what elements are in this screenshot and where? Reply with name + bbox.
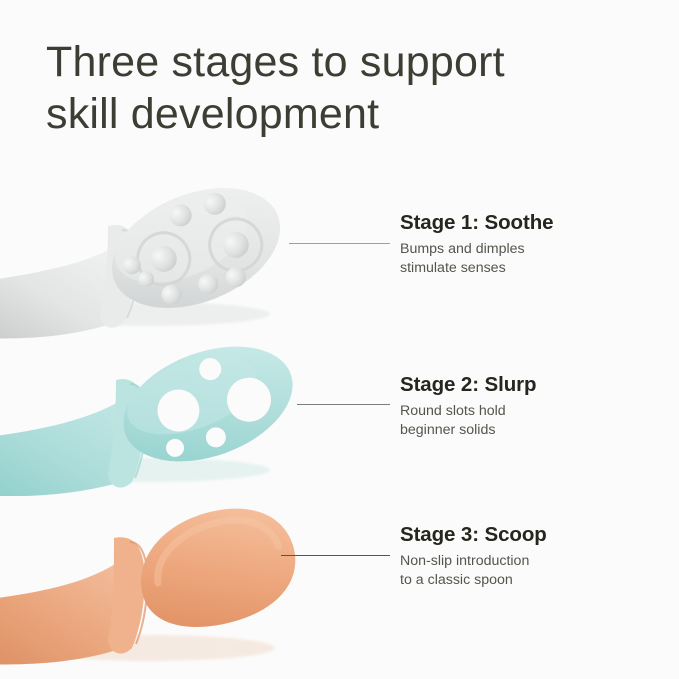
stage-text-3: Stage 3: Scoop Non-slip introduction to … <box>400 522 670 589</box>
stage-text-2: Stage 2: Slurp Round slots hold beginner… <box>400 372 670 439</box>
stage-heading-2: Stage 2: Slurp <box>400 372 670 397</box>
stage-row-2: Stage 2: Slurp Round slots hold beginner… <box>0 346 679 496</box>
product-image-stage-3 <box>0 496 400 679</box>
teal-perforated-slotted-spoon-svg <box>0 346 400 496</box>
stage-desc-1-line-1: Bumps and dimples <box>400 240 670 259</box>
gray-textured-teether-spoon-svg <box>0 186 400 346</box>
stage-desc-2-line-1: Round slots hold <box>400 402 670 421</box>
page-title: Three stages to support skill developmen… <box>46 36 586 140</box>
peach-solid-scoop-spoon-svg <box>0 496 400 679</box>
leader-line-stage-1 <box>289 243 390 244</box>
stage-desc-2-line-2: beginner solids <box>400 421 670 440</box>
product-image-stage-1 <box>0 186 400 346</box>
title-line-1: Three stages to support <box>46 36 586 88</box>
stage-row-3: Stage 3: Scoop Non-slip introduction to … <box>0 496 679 679</box>
stage-desc-3-line-1: Non-slip introduction <box>400 552 670 571</box>
title-line-2: skill development <box>46 88 586 140</box>
product-infographic: Three stages to support skill developmen… <box>0 0 679 679</box>
stage-desc-1-line-2: stimulate senses <box>400 259 670 278</box>
stage-heading-1: Stage 1: Soothe <box>400 210 670 235</box>
stage-text-1: Stage 1: Soothe Bumps and dimples stimul… <box>400 210 670 277</box>
stage-row-1: Stage 1: Soothe Bumps and dimples stimul… <box>0 186 679 346</box>
stage-desc-3-line-2: to a classic spoon <box>400 571 670 590</box>
leader-line-stage-2 <box>297 404 390 405</box>
leader-line-stage-3 <box>281 555 390 556</box>
product-image-stage-2 <box>0 346 400 496</box>
stage-heading-3: Stage 3: Scoop <box>400 522 670 547</box>
spoon-bowl-3 <box>126 496 309 644</box>
